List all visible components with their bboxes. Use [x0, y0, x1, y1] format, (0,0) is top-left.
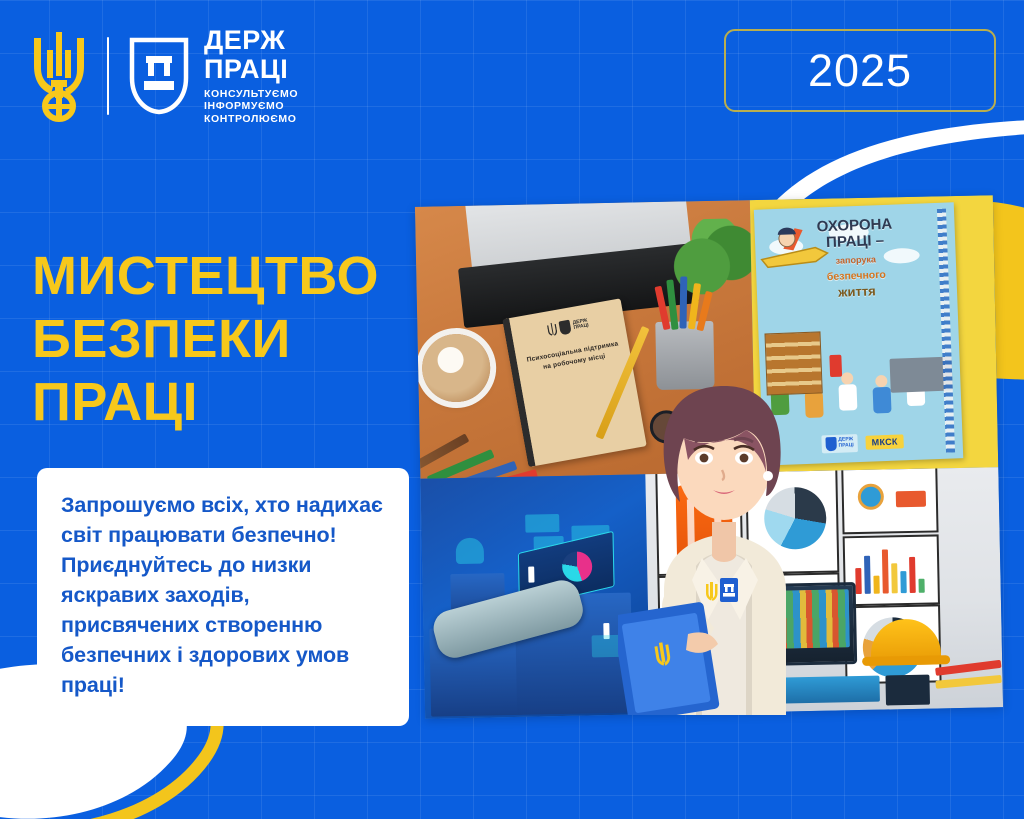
- shield-hologram-icon: [456, 538, 485, 565]
- notebook-shield-icon: [558, 320, 571, 336]
- bar-chart-icon: [855, 547, 925, 594]
- year-badge: 2025: [724, 29, 996, 112]
- tagline-line-1: КОНСУЛЬТУЄМО: [204, 88, 298, 100]
- tiny-person-icon: [528, 567, 534, 583]
- safety-vest-icon: [676, 485, 734, 564]
- poster-canvas: ДЕРЖ ПРАЦІ КОНСУЛЬТУЄМО ІНФОРМУЄМО КОНТР…: [0, 0, 1024, 819]
- kids-drawing-sheet: ОХОРОНА ПРАЦІ – запорука безпечного житт…: [754, 202, 963, 465]
- poster-derzh-line-2: ПРАЦІ: [839, 443, 854, 449]
- tech-illustration-photo: [420, 474, 650, 718]
- pencil-icon: [935, 675, 1001, 689]
- laptop-screen: [741, 589, 850, 649]
- wall-board: [655, 470, 743, 576]
- logo-divider: [107, 37, 109, 115]
- page-title: МИСТЕЦТВО БЕЗПЕКИ ПРАЦІ: [32, 245, 432, 434]
- glasses-icon: [647, 409, 730, 445]
- notebook-title: Психосоціальна підтримка на робочому міс…: [524, 339, 623, 376]
- pencil-cup-icon: [655, 321, 714, 390]
- tagline-line-3: КОНТРОЛЮЄМО: [204, 113, 298, 125]
- poster-shield-icon: [825, 437, 837, 451]
- invitation-card: Запрошуємо всіх, хто надихає світ працюв…: [37, 468, 409, 726]
- pen-cup-icon: [707, 563, 734, 598]
- photo-collage: ДЕРЖ ПРАЦІ Психосоціальна підтримка на р…: [415, 195, 1003, 718]
- invitation-text: Запрошуємо всіх, хто надихає світ працюв…: [61, 490, 385, 700]
- year-value: 2025: [808, 45, 912, 97]
- brand-wordmark: ДЕРЖ ПРАЦІ КОНСУЛЬТУЄМО ІНФОРМУЄМО КОНТР…: [204, 27, 298, 125]
- wall-board: [841, 467, 938, 534]
- airplane-pilot-icon: [756, 219, 836, 284]
- calculator-icon: [885, 675, 930, 706]
- poster-logo-row: ДЕРЖ ПРАЦІ МКСК: [770, 428, 955, 457]
- kids-poster-photo: ОХОРОНА ПРАЦІ – запорука безпечного житт…: [750, 195, 998, 472]
- donut-chart-icon: [764, 487, 827, 550]
- desk-tray-icon: [769, 676, 879, 704]
- wordmark-line-1: ДЕРЖ: [204, 27, 298, 54]
- office-laptop-icon: [734, 582, 858, 666]
- wall-board: [745, 468, 839, 574]
- office-scene-photo: [645, 467, 1003, 714]
- notebook-brand-line-2: ПРАЦІ: [573, 323, 589, 331]
- document-icon: [657, 662, 740, 710]
- poster-derzhpratsi-logo: ДЕРЖ ПРАЦІ: [821, 434, 858, 453]
- ukraine-trident-icon: [30, 30, 88, 122]
- poster-header: ДЕРЖ ПРАЦІ КОНСУЛЬТУЄМО ІНФОРМУЄМО КОНТР…: [0, 0, 1024, 150]
- brand-lockup: ДЕРЖ ПРАЦІ КОНСУЛЬТУЄМО ІНФОРМУЄМО КОНТР…: [30, 27, 298, 125]
- fire-extinguisher-icon: [829, 355, 842, 377]
- tagline-line-2: ІНФОРМУЄМО: [204, 100, 298, 112]
- gauge-icon: [858, 484, 885, 511]
- bookshelf-icon: [764, 331, 822, 395]
- poster-mksk-logo: МКСК: [865, 434, 904, 449]
- desk-scene-photo: ДЕРЖ ПРАЦІ Психосоціальна підтримка на р…: [415, 200, 755, 479]
- notebook-trident-icon: [547, 322, 558, 337]
- derzhpratsi-shield-icon: [128, 36, 190, 116]
- coffee-cup-icon: [421, 333, 490, 402]
- wordmark-line-2: ПРАЦІ: [204, 56, 298, 83]
- kids-figures-group: [762, 308, 958, 425]
- wall-board: [843, 534, 940, 606]
